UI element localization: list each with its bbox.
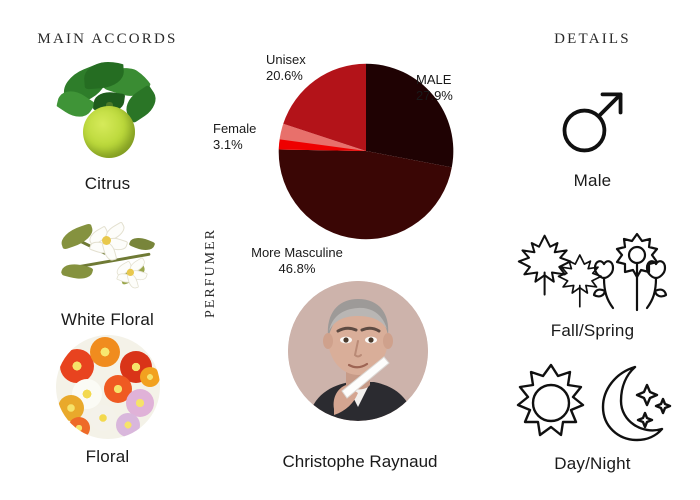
pie-label-more-masculine: More Masculine 46.8%	[251, 245, 343, 278]
perfume-profile-page: MAIN ACCORDS Citrus	[0, 0, 700, 500]
detail-label: Fall/Spring	[485, 321, 700, 341]
detail-item-time-of-day: Day/Night	[485, 358, 700, 474]
perfumer-portrait-svg	[288, 281, 428, 421]
detail-item-gender: Male	[485, 75, 700, 191]
detail-item-season: Fall/Spring	[485, 225, 700, 341]
maple-leaf-and-flowers-icon	[485, 225, 700, 317]
perfumer-name: Christophe Raynaud	[240, 452, 480, 472]
accord-item-floral: Floral	[0, 335, 215, 467]
pie-label-more-masculine-name: More Masculine	[251, 245, 343, 261]
bergamot-lime-photo	[56, 62, 160, 166]
detail-label: Male	[485, 171, 700, 191]
mars-gender-icon	[485, 75, 700, 167]
white-blossom-photo	[56, 198, 160, 302]
accord-item-citrus: Citrus	[0, 62, 215, 194]
detail-label: Day/Night	[485, 454, 700, 474]
pie-label-male-percent: 27.9%	[416, 88, 453, 104]
pie-label-unisex: Unisex 20.6%	[266, 52, 306, 85]
pie-label-male: MALE 27.9%	[416, 72, 453, 105]
accord-label: White Floral	[0, 310, 215, 330]
sun-and-moon-icon	[485, 358, 700, 450]
pie-label-unisex-name: Unisex	[266, 52, 306, 68]
pie-label-female-percent: 3.1%	[213, 137, 256, 153]
accord-label: Floral	[0, 447, 215, 467]
pie-label-female: Female 3.1%	[213, 121, 256, 154]
accord-item-white-floral: White Floral	[0, 198, 215, 330]
perfumer-portrait	[288, 281, 428, 421]
pie-label-unisex-percent: 20.6%	[266, 68, 306, 84]
accord-label: Citrus	[0, 174, 215, 194]
pie-label-more-masculine-percent: 46.8%	[251, 261, 343, 277]
main-accords-heading: MAIN ACCORDS	[0, 31, 215, 48]
pie-label-female-name: Female	[213, 121, 256, 137]
details-heading: DETAILS	[485, 31, 700, 48]
perfumer-section-label: PERFUMER	[203, 228, 219, 318]
pie-slice-more-masculine	[279, 149, 452, 239]
pie-label-male-name: MALE	[416, 72, 453, 88]
mixed-flowers-photo	[56, 335, 160, 439]
